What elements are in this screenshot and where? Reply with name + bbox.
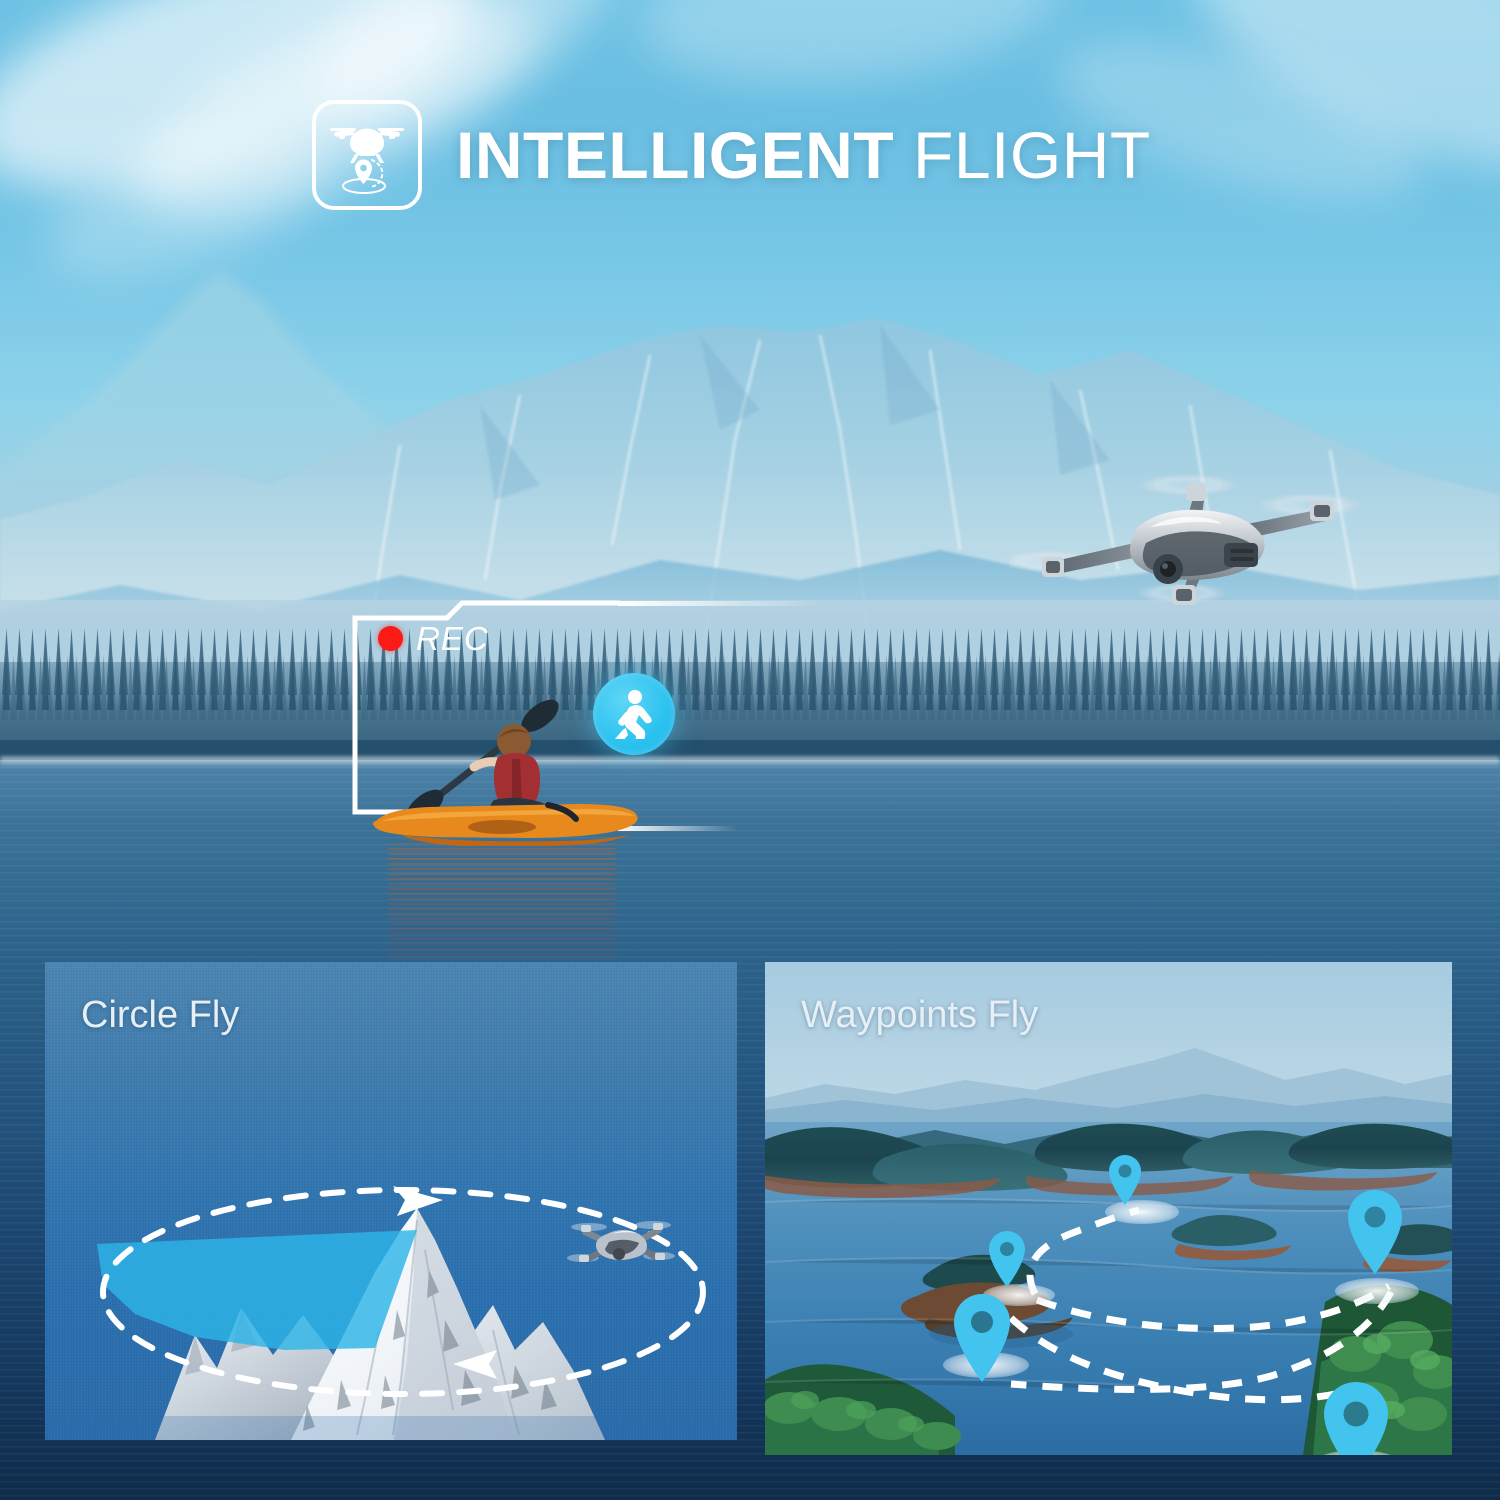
title-light-part: FLIGHT: [913, 118, 1151, 192]
rec-label: REC: [416, 622, 489, 655]
panel-waypoints-fly: Waypoints Fly: [765, 962, 1452, 1455]
recording-indicator: REC: [378, 622, 489, 655]
subject-tracking-frame: REC: [352, 600, 822, 845]
panel-circle-fly: Circle Fly: [45, 962, 737, 1440]
quadcopter-drone: [1010, 465, 1370, 655]
quadcopter-drone: [567, 1212, 679, 1276]
panel-label-circle-fly: Circle Fly: [81, 996, 239, 1034]
panel-label-waypoints-fly: Waypoints Fly: [801, 996, 1038, 1034]
landing-pad: [1335, 1278, 1419, 1304]
title-bold-part: INTELLIGENT: [456, 118, 894, 192]
rec-dot-icon: [378, 626, 403, 651]
waypoint-pin-icon[interactable]: [1345, 1188, 1405, 1276]
waypoint-pin-icon[interactable]: [1321, 1380, 1391, 1455]
drone-waypoint-icon: [312, 100, 422, 210]
intelligent-flight-banner: INTELLIGENT FLIGHT: [0, 0, 1500, 1500]
page-title: INTELLIGENT FLIGHT: [456, 122, 1151, 188]
banner-header: INTELLIGENT FLIGHT: [312, 100, 1151, 210]
running-person-icon[interactable]: [593, 673, 675, 755]
waypoint-pin-icon[interactable]: [951, 1292, 1013, 1384]
waypoint-pin-icon[interactable]: [1107, 1154, 1143, 1206]
waypoint-pin-icon[interactable]: [987, 1230, 1027, 1288]
